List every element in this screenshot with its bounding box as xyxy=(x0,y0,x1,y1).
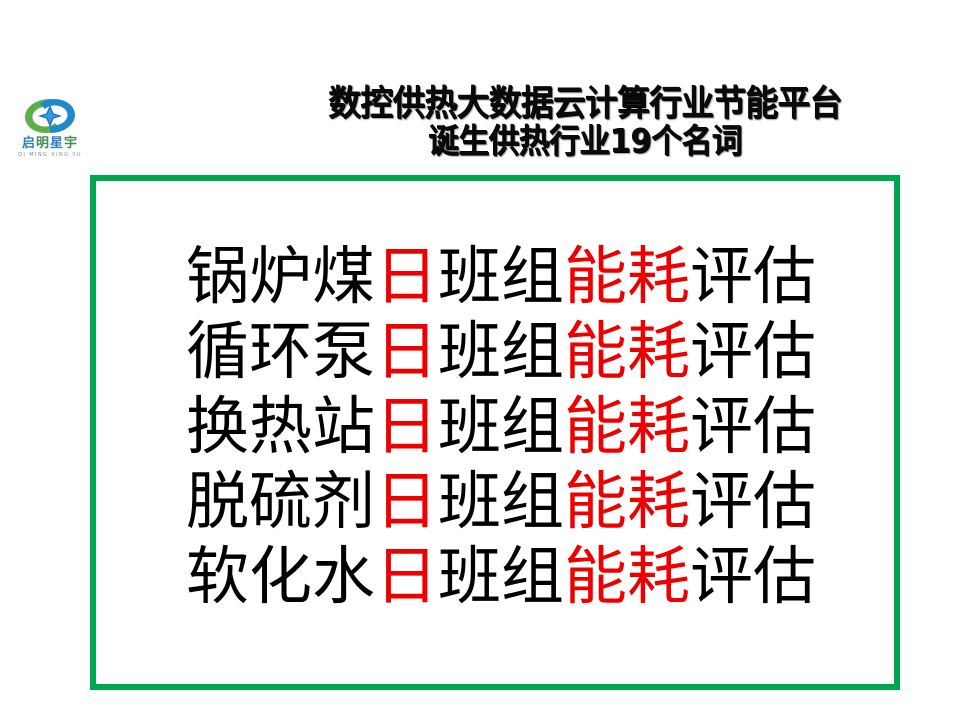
term-subject: 脱硫剂 xyxy=(186,465,375,538)
slide-title: 数控供热大数据云计算行业节能平台 诞生供热行业19个名词 xyxy=(240,86,930,159)
green-framed-content-box: 锅炉煤日班组能耗评估 循环泵日班组能耗评估 换热站日班组能耗评估 脱硫剂日班组能… xyxy=(90,175,900,690)
logo-wordmark: 启明星宇 xyxy=(22,137,78,151)
term-metric: 能耗 xyxy=(564,465,690,538)
term-group: 班组 xyxy=(438,390,564,463)
logo-char-xing: 星 xyxy=(50,136,64,151)
term-action: 评估 xyxy=(690,465,816,538)
term-group: 班组 xyxy=(438,240,564,313)
list-item: 软化水日班组能耗评估 xyxy=(106,539,896,614)
list-item: 锅炉煤日班组能耗评估 xyxy=(106,239,896,314)
term-action: 评估 xyxy=(690,315,816,388)
term-period: 日 xyxy=(375,540,438,613)
logo-char-ming: 明 xyxy=(36,136,50,151)
term-subject: 锅炉煤 xyxy=(186,240,375,313)
term-group: 班组 xyxy=(438,540,564,613)
qi-ming-xing-yu-mark-icon xyxy=(22,96,78,136)
term-period: 日 xyxy=(375,390,438,463)
term-period: 日 xyxy=(375,240,438,313)
term-subject: 循环泵 xyxy=(186,315,375,388)
term-subject: 换热站 xyxy=(186,390,375,463)
company-logo: 启明星宇 QI MING XING YU xyxy=(14,96,86,168)
term-group: 班组 xyxy=(438,315,564,388)
term-metric: 能耗 xyxy=(564,390,690,463)
term-metric: 能耗 xyxy=(564,240,690,313)
term-metric: 能耗 xyxy=(564,315,690,388)
logo-pinyin: QI MING XING YU xyxy=(18,152,82,158)
term-list: 锅炉煤日班组能耗评估 循环泵日班组能耗评估 换热站日班组能耗评估 脱硫剂日班组能… xyxy=(106,239,896,614)
term-metric: 能耗 xyxy=(564,540,690,613)
term-subject: 软化水 xyxy=(186,540,375,613)
logo-char-qi: 启 xyxy=(22,136,36,151)
presentation-slide: 启明星宇 QI MING XING YU 数控供热大数据云计算行业节能平台 诞生… xyxy=(0,0,960,720)
logo-char-yu: 宇 xyxy=(64,136,78,151)
term-action: 评估 xyxy=(690,540,816,613)
title-line-primary: 数控供热大数据云计算行业节能平台 xyxy=(264,86,906,123)
term-group: 班组 xyxy=(438,465,564,538)
term-period: 日 xyxy=(375,315,438,388)
term-action: 评估 xyxy=(690,240,816,313)
term-period: 日 xyxy=(375,465,438,538)
list-item: 脱硫剂日班组能耗评估 xyxy=(106,464,896,539)
list-item: 循环泵日班组能耗评估 xyxy=(106,314,896,389)
title-line-secondary: 诞生供热行业19个名词 xyxy=(264,123,906,159)
term-action: 评估 xyxy=(690,390,816,463)
list-item: 换热站日班组能耗评估 xyxy=(106,389,896,464)
